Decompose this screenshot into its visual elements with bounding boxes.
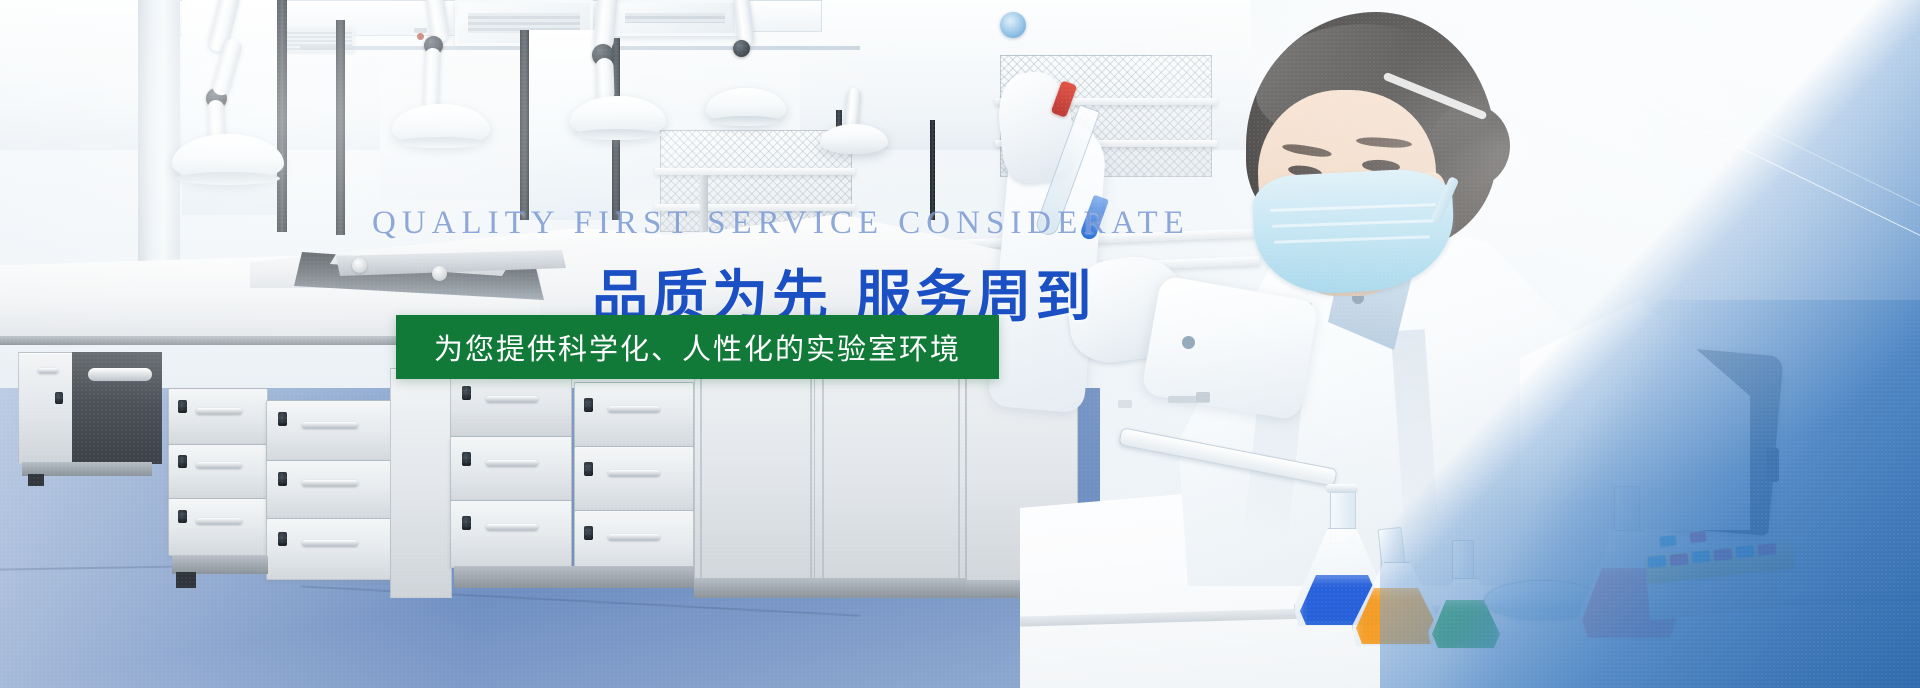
drawer-handle bbox=[608, 470, 660, 476]
drawer-lock bbox=[278, 532, 287, 546]
sprinkler-head bbox=[417, 33, 424, 40]
cabinet-foot bbox=[28, 474, 44, 486]
bench-side-panel bbox=[390, 368, 452, 598]
cabinet-door-panel bbox=[822, 350, 960, 582]
drawer bbox=[450, 436, 572, 502]
drawer bbox=[574, 446, 694, 512]
drawer bbox=[266, 400, 392, 462]
cuff-button bbox=[1182, 336, 1195, 349]
fume-hood-rim bbox=[396, 137, 486, 148]
drawer-lock bbox=[178, 510, 187, 523]
fume-hood bbox=[820, 124, 888, 154]
drawer-lock bbox=[462, 516, 471, 530]
cabinet-plinth bbox=[454, 566, 694, 588]
cabinet-door-panel bbox=[700, 344, 812, 580]
drawer-handle bbox=[196, 518, 242, 524]
drawer-handle bbox=[196, 408, 242, 414]
faucet-knob bbox=[432, 266, 447, 281]
drawer bbox=[574, 382, 694, 448]
drawer-handle bbox=[608, 534, 660, 540]
lab-hero-banner: QUALITY FIRST SERVICE CONSIDERATE 品质为先 服… bbox=[0, 0, 1920, 688]
drawer bbox=[266, 460, 392, 520]
green-subtitle-bar: 为您提供科学化、人性化的实验室环境 bbox=[396, 315, 999, 379]
bench-chip bbox=[1196, 392, 1210, 402]
drawer bbox=[168, 388, 268, 446]
bench-marker bbox=[1118, 400, 1132, 408]
green-subtitle-text: 为您提供科学化、人性化的实验室环境 bbox=[434, 326, 961, 368]
drawer-lock bbox=[178, 455, 187, 468]
support-pillar bbox=[138, 0, 180, 300]
window-mullion bbox=[520, 30, 529, 220]
drawer-handle bbox=[302, 540, 358, 546]
cabinet-handle bbox=[88, 368, 152, 381]
ac-unit bbox=[612, 0, 738, 36]
cabinet-lock bbox=[462, 386, 471, 400]
drawer bbox=[450, 500, 572, 568]
drawer-lock bbox=[178, 400, 187, 413]
window-mullion bbox=[277, 0, 287, 232]
fume-hood-rim bbox=[574, 129, 662, 140]
fume-hood-rim bbox=[176, 172, 280, 185]
drawer bbox=[168, 498, 268, 556]
fume-arm-joint bbox=[733, 40, 750, 57]
cabinet-plinth bbox=[694, 578, 966, 598]
under-bench-cabinet bbox=[450, 370, 572, 438]
drawer-handle bbox=[486, 460, 538, 466]
window-mullion bbox=[336, 20, 345, 235]
drawer-handle bbox=[302, 422, 358, 428]
sprinkler-plate bbox=[414, 28, 427, 33]
wall-clock-icon bbox=[1000, 12, 1026, 38]
cabinet-handle bbox=[38, 368, 58, 373]
drawer bbox=[266, 518, 392, 580]
drawer-lock bbox=[584, 526, 593, 540]
cabinet-foot bbox=[176, 572, 196, 588]
drawer-handle bbox=[196, 462, 242, 468]
faucet-knob bbox=[352, 258, 367, 273]
english-tagline: QUALITY FIRST SERVICE CONSIDERATE bbox=[372, 205, 1190, 242]
fume-arm-segment bbox=[423, 48, 441, 109]
cabinet-handle bbox=[486, 396, 538, 402]
drawer-handle bbox=[302, 480, 358, 486]
drawer-lock bbox=[278, 412, 287, 426]
drawer-lock bbox=[584, 462, 593, 476]
drawer-lock bbox=[462, 452, 471, 466]
drawer-lock bbox=[278, 472, 287, 486]
drawer bbox=[168, 444, 268, 500]
drawer-handle bbox=[608, 406, 660, 412]
drawer-handle bbox=[486, 524, 538, 530]
cabinet-lock bbox=[55, 392, 63, 404]
drawer-lock bbox=[584, 398, 593, 412]
wall-shelf bbox=[655, 168, 855, 175]
fume-hood-rim bbox=[710, 116, 782, 126]
